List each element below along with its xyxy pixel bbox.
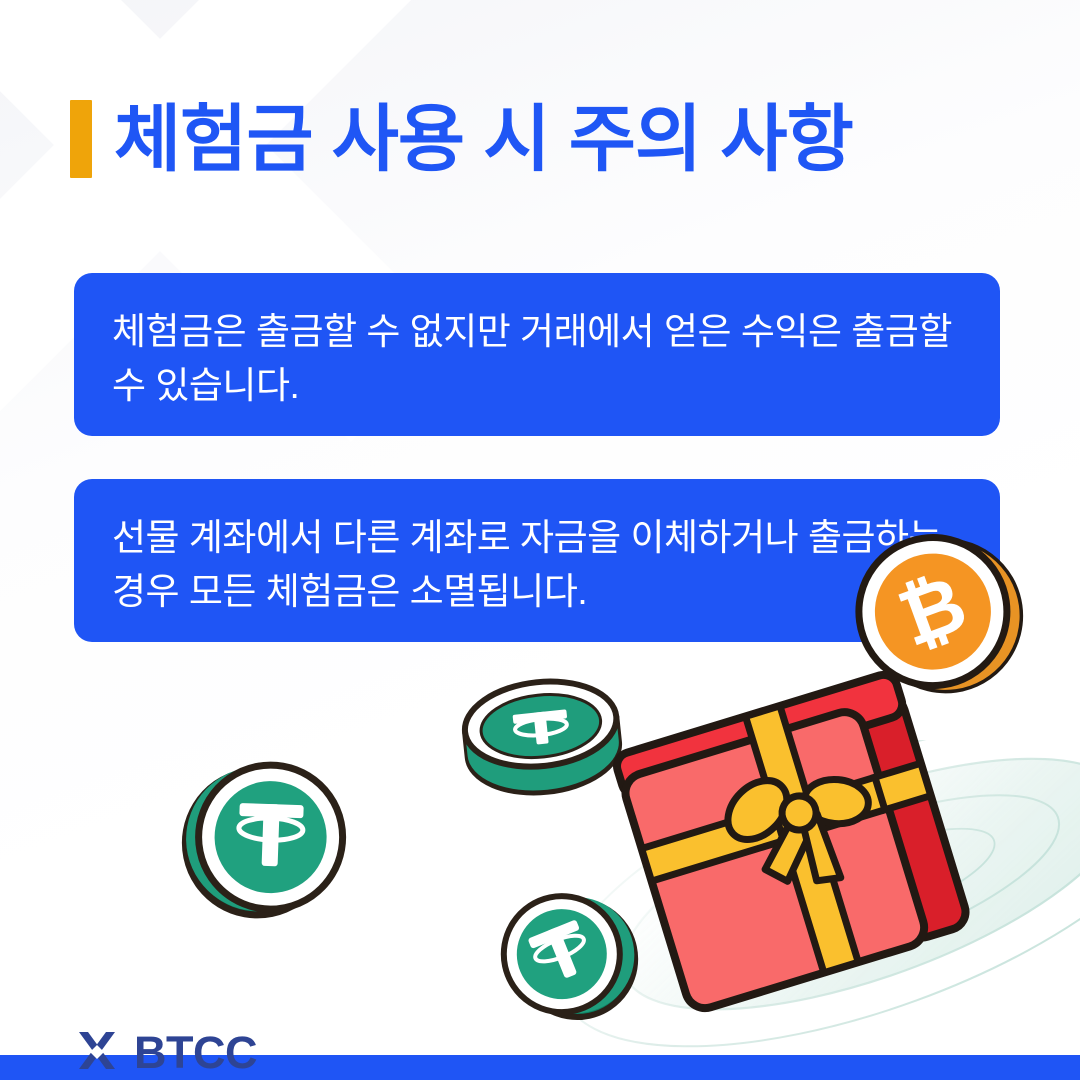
title-label: 체험금 사용 시 주의 사항	[114, 103, 853, 176]
brand-name-label: BTCC	[134, 1030, 257, 1075]
brand-logo: BTCC	[74, 1026, 257, 1078]
title-accent-bar	[70, 100, 92, 178]
notice-card-1: 체험금은 출금할 수 없지만 거래에서 얻은 수익은 출금할 수 있습니다.	[74, 273, 1000, 436]
notice-card-1-text: 체험금은 출금할 수 없지만 거래에서 얻은 수익은 출금할 수 있습니다.	[112, 305, 962, 412]
btcc-x-logo-icon	[74, 1029, 120, 1075]
page-title: 체험금 사용 시 주의 사항	[70, 100, 853, 178]
promo-card: 체험금 사용 시 주의 사항 체험금은 출금할 수 없지만 거래에서 얻은 수익…	[0, 0, 1080, 1080]
notice-card-2: 선물 계좌에서 다른 계좌로 자금을 이체하거나 출금하는 경우 모든 체험금은…	[74, 479, 1000, 642]
notice-card-2-text: 선물 계좌에서 다른 계좌로 자금을 이체하거나 출금하는 경우 모든 체험금은…	[112, 511, 962, 618]
